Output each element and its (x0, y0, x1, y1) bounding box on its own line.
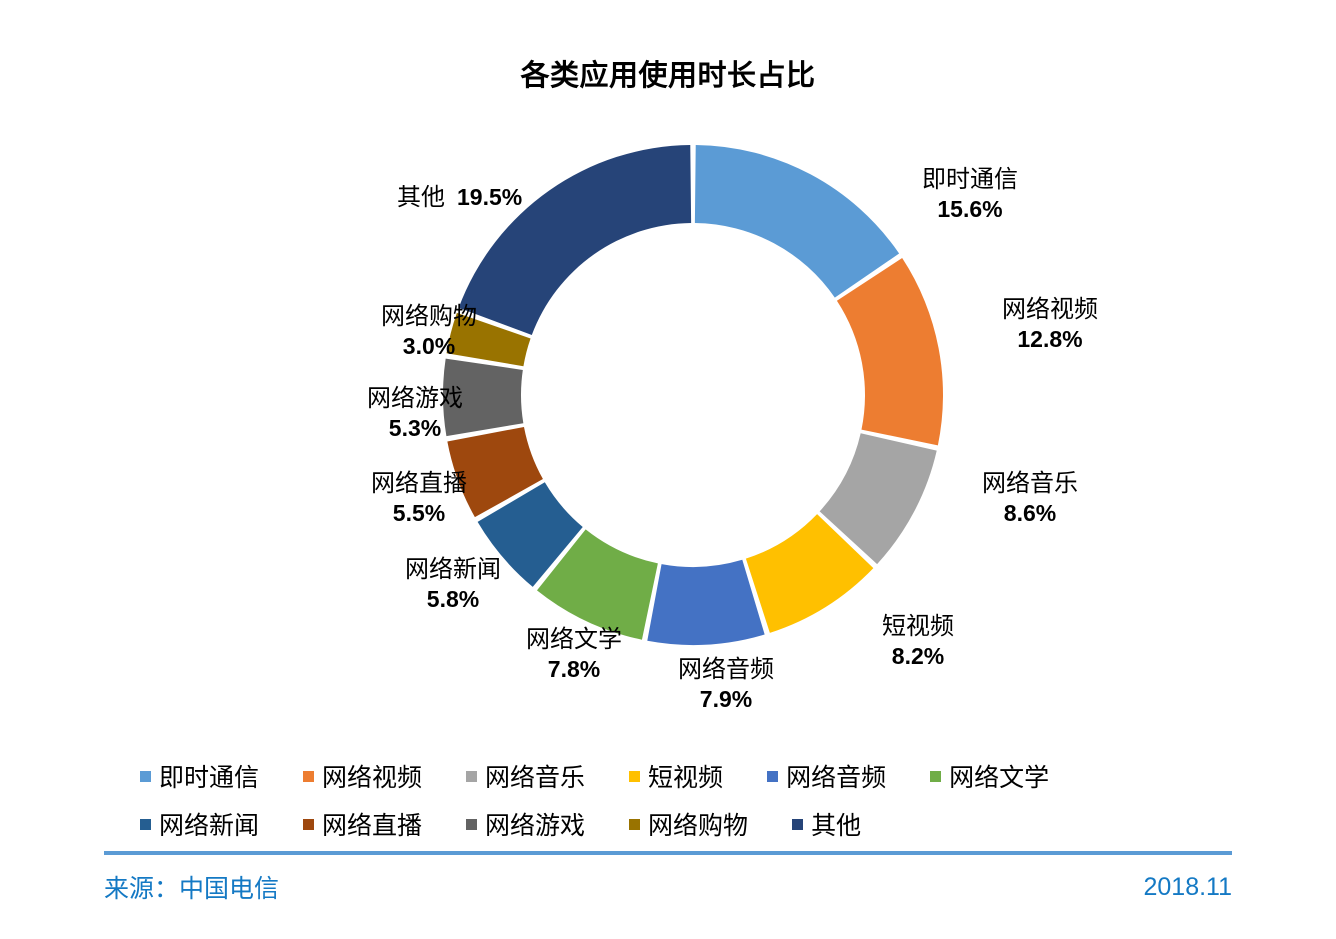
slice-label-category: 网络购物 (344, 303, 514, 332)
slice-label-value: 8.2% (828, 642, 1008, 670)
legend-swatch-icon (629, 819, 640, 830)
legend-item[interactable]: 网络新闻 (140, 806, 259, 842)
footer-divider (104, 851, 1232, 855)
legend-item-label: 网络音频 (786, 758, 886, 794)
slice-label-online-games: 网络游戏 5.3% (330, 385, 500, 442)
slice-label-online-music: 网络音乐 8.6% (930, 470, 1130, 527)
legend-swatch-icon (303, 771, 314, 782)
slice-label-live-streaming: 网络直播 5.5% (334, 470, 504, 527)
legend-item[interactable]: 其他 (792, 806, 861, 842)
slice-label-value: 3.0% (344, 332, 514, 360)
legend-item-label: 网络购物 (648, 806, 748, 842)
page-title: 各类应用使用时长占比 (0, 52, 1336, 94)
slice-label-category: 网络文学 (484, 626, 664, 655)
legend-swatch-icon (140, 819, 151, 830)
slice-label-value: 19.5% (457, 184, 522, 210)
legend-item-label: 网络游戏 (485, 806, 585, 842)
slice-label-value: 7.9% (636, 685, 816, 713)
legend-swatch-icon (767, 771, 778, 782)
legend-swatch-icon (140, 771, 151, 782)
legend-row-2: 网络新闻网络直播网络游戏网络购物其他 (140, 800, 1270, 848)
legend-item-label: 网络直播 (322, 806, 422, 842)
legend-item-label: 其他 (811, 806, 861, 842)
legend-item-label: 网络视频 (322, 758, 422, 794)
slice-label-category: 网络音乐 (930, 470, 1130, 499)
footer: 来源：中国电信 2018.11 (104, 864, 1232, 910)
legend-item[interactable]: 短视频 (629, 758, 723, 794)
donut-slice[interactable] (647, 560, 764, 645)
legend-swatch-icon (303, 819, 314, 830)
legend-item[interactable]: 网络音频 (767, 758, 886, 794)
legend-item-label: 短视频 (648, 758, 723, 794)
source-text: 来源：中国电信 (104, 869, 279, 905)
slice-label-category: 网络游戏 (330, 385, 500, 414)
slice-label-value: 5.5% (334, 499, 504, 527)
slice-label-value: 8.6% (930, 499, 1130, 527)
slice-label-short-video: 短视频 8.2% (828, 613, 1008, 670)
slice-label-category: 网络直播 (334, 470, 504, 499)
legend-item[interactable]: 网络购物 (629, 806, 748, 842)
slice-label-category: 网络新闻 (368, 556, 538, 585)
slice-label-category: 即时通信 (855, 166, 1085, 195)
legend-item-label: 网络文学 (949, 758, 1049, 794)
legend-swatch-icon (466, 819, 477, 830)
legend-item-label: 网络新闻 (159, 806, 259, 842)
slice-label-category: 短视频 (828, 613, 1008, 642)
legend-item-label: 即时通信 (159, 758, 259, 794)
slice-label-others: 其他 19.5% (397, 183, 522, 213)
slice-label-instant-messaging: 即时通信 15.6% (855, 166, 1085, 223)
slice-label-value: 5.3% (330, 414, 500, 442)
legend-swatch-icon (930, 771, 941, 782)
chart-legend: 即时通信网络视频网络音乐短视频网络音频网络文学 网络新闻网络直播网络游戏网络购物… (140, 752, 1270, 848)
legend-swatch-icon (629, 771, 640, 782)
date-text: 2018.11 (1143, 873, 1232, 902)
legend-item-label: 网络音乐 (485, 758, 585, 794)
slice-label-online-news: 网络新闻 5.8% (368, 556, 538, 613)
slice-label-online-shopping: 网络购物 3.0% (344, 303, 514, 360)
legend-swatch-icon (792, 819, 803, 830)
legend-item[interactable]: 网络直播 (303, 806, 422, 842)
legend-swatch-icon (466, 771, 477, 782)
slide-canvas: 各类应用使用时长占比 即时通信 15.6% 网络视频 12.8% 网络音乐 8.… (0, 0, 1336, 939)
slice-label-value: 7.8% (484, 655, 664, 683)
legend-row-1: 即时通信网络视频网络音乐短视频网络音频网络文学 (140, 752, 1270, 800)
slice-label-category: 其他 (397, 185, 445, 211)
legend-item[interactable]: 网络游戏 (466, 806, 585, 842)
legend-item[interactable]: 网络音乐 (466, 758, 585, 794)
legend-item[interactable]: 网络文学 (930, 758, 1049, 794)
slice-label-value: 5.8% (368, 585, 538, 613)
legend-item[interactable]: 网络视频 (303, 758, 422, 794)
slice-label-category: 网络视频 (935, 296, 1165, 325)
donut-slice[interactable] (837, 258, 943, 445)
slice-label-online-video: 网络视频 12.8% (935, 296, 1165, 353)
slice-label-online-literature: 网络文学 7.8% (484, 626, 664, 683)
slice-label-value: 12.8% (935, 325, 1165, 353)
legend-item[interactable]: 即时通信 (140, 758, 259, 794)
slice-label-value: 15.6% (855, 195, 1085, 223)
